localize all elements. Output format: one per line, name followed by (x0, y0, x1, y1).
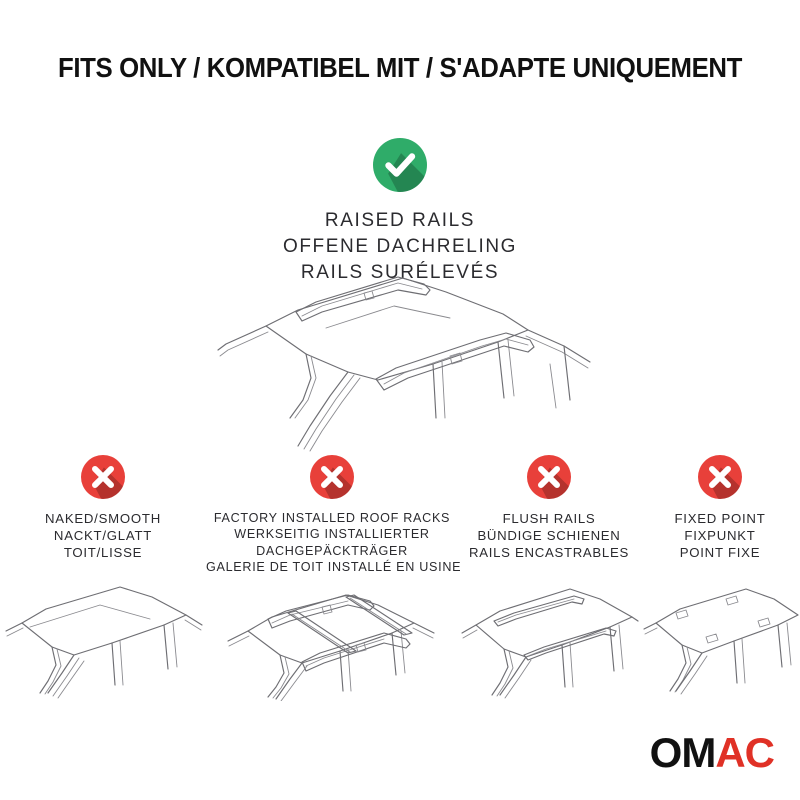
item-label-fr: GALERIE DE TOIT INSTALLÉ EN USINE (206, 559, 458, 575)
cross-circle-icon (81, 455, 125, 499)
badge-wrap (458, 455, 640, 499)
item-label-de-1: WERKSEITIG INSTALLIERTER (206, 526, 458, 542)
item-label-en: FIXED POINT (640, 510, 800, 527)
header: FITS ONLY / KOMPATIBEL MIT / S'ADAPTE UN… (0, 52, 800, 84)
compatible-block: RAISED RAILS OFFENE DACHRELING RAILS SUR… (0, 138, 800, 287)
incompatible-item-factory-racks: FACTORY INSTALLED ROOF RACKS WERKSEITIG … (206, 455, 458, 705)
item-labels: FIXED POINT FIXPUNKT POINT FIXE (640, 510, 800, 561)
item-label-fr: POINT FIXE (640, 544, 800, 561)
item-label-de-2: DACHGEPÄCKTRÄGER (206, 543, 458, 559)
compatible-label-en: RAISED RAILS (0, 208, 800, 234)
item-labels: FACTORY INSTALLED ROOF RACKS WERKSEITIG … (206, 510, 458, 575)
car-roof-raised-rails-illustration (198, 268, 618, 453)
incompatible-item-naked-smooth: NAKED/SMOOTH NACKT/GLATT TOIT/LISSE (0, 455, 206, 705)
item-label-fr: TOIT/LISSE (0, 544, 206, 561)
item-label-de: NACKT/GLATT (0, 527, 206, 544)
cross-circle-icon (310, 455, 354, 499)
item-label-de: FIXPUNKT (640, 527, 800, 544)
badge-wrap (206, 455, 458, 499)
check-circle-icon (373, 138, 427, 192)
incompatible-item-flush-rails: FLUSH RAILS BÜNDIGE SCHIENEN RAILS ENCAS… (458, 455, 640, 705)
logo-part-red: AC (715, 729, 774, 776)
item-label-en: FLUSH RAILS (458, 510, 640, 527)
cross-circle-icon (527, 455, 571, 499)
item-labels: NAKED/SMOOTH NACKT/GLATT TOIT/LISSE (0, 510, 206, 561)
car-roof-naked-illustration (0, 581, 206, 701)
car-roof-fixed-point-illustration (640, 581, 800, 701)
compatible-label-de: OFFENE DACHRELING (0, 234, 800, 260)
fitment-chart: FITS ONLY / KOMPATIBEL MIT / S'ADAPTE UN… (0, 0, 800, 800)
item-label-en: FACTORY INSTALLED ROOF RACKS (206, 510, 458, 526)
item-label-en: NAKED/SMOOTH (0, 510, 206, 527)
item-labels: FLUSH RAILS BÜNDIGE SCHIENEN RAILS ENCAS… (458, 510, 640, 561)
cross-circle-icon (698, 455, 742, 499)
badge-wrap (0, 455, 206, 499)
logo-part-dark: OM (650, 729, 716, 776)
item-label-fr: RAILS ENCASTRABLES (458, 544, 640, 561)
omac-logo: OMAC (650, 732, 774, 774)
item-label-de: BÜNDIGE SCHIENEN (458, 527, 640, 544)
car-roof-flush-rails-illustration (458, 581, 640, 701)
incompatible-item-fixed-point: FIXED POINT FIXPUNKT POINT FIXE (640, 455, 800, 705)
badge-wrap (640, 455, 800, 499)
incompatible-row: NAKED/SMOOTH NACKT/GLATT TOIT/LISSE (0, 455, 800, 705)
car-roof-factory-racks-illustration (206, 581, 458, 701)
page-title: FITS ONLY / KOMPATIBEL MIT / S'ADAPTE UN… (32, 52, 768, 84)
